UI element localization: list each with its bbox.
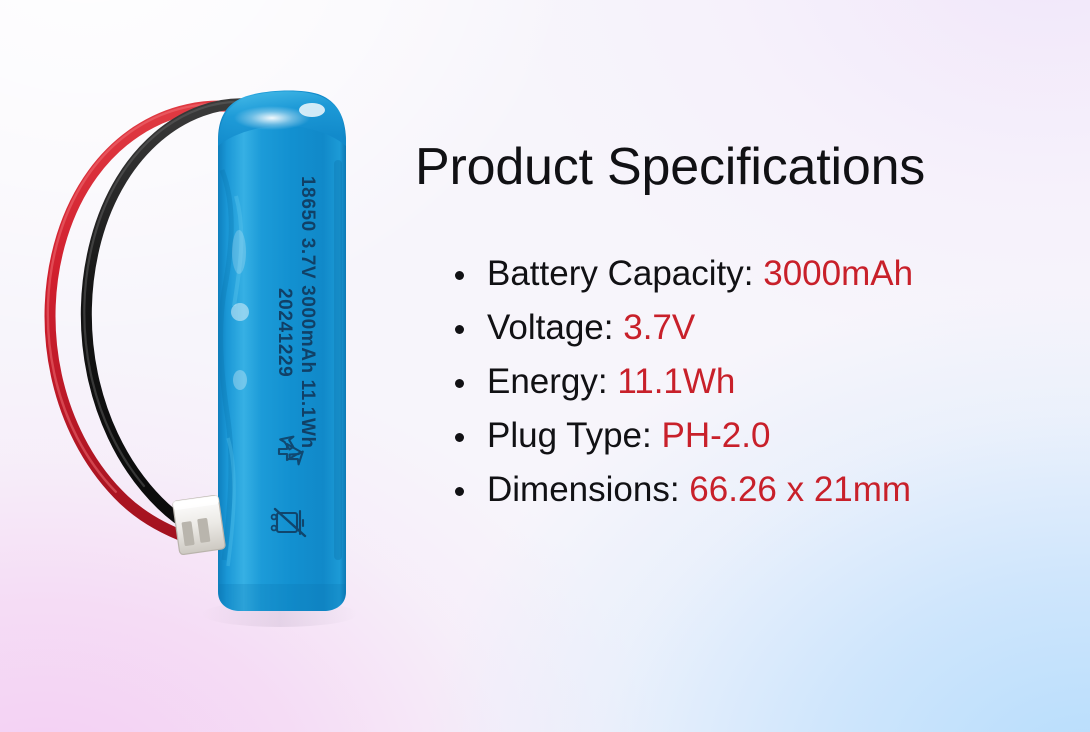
spec-value: 66.26 x 21mm <box>689 470 911 509</box>
spec-label: Voltage: <box>487 308 623 347</box>
product-spec-image: 18650 3.7V 3000mAh 11.1Wh 20241229 Produ… <box>0 0 1090 732</box>
battery-bottom-edge <box>219 584 345 611</box>
spec-value: 3.7V <box>623 308 695 347</box>
page-title: Product Specifications <box>415 140 1055 195</box>
spec-value: 11.1Wh <box>617 362 735 401</box>
spec-row-plug-type: Plug Type: PH-2.0 <box>415 409 1055 463</box>
spec-label: Battery Capacity: <box>487 254 763 293</box>
jst-ph-2.0-connector <box>172 495 225 555</box>
spec-label: Dimensions: <box>487 470 689 509</box>
cell-right-shade <box>334 160 342 560</box>
spec-value: PH-2.0 <box>661 416 770 455</box>
cell-label-spec-text: 18650 3.7V 3000mAh 11.1Wh <box>296 176 318 449</box>
spec-row-energy: Energy: 11.1Wh <box>415 355 1055 409</box>
battery-product-photo: 18650 3.7V 3000mAh 11.1Wh 20241229 <box>0 0 420 732</box>
cell-label-date-code: 20241229 <box>273 288 295 377</box>
gloss-left-streak <box>232 230 246 274</box>
gloss-dot-lower <box>233 370 247 390</box>
gloss-top <box>234 106 310 130</box>
spec-row-dimensions: Dimensions: 66.26 x 21mm <box>415 463 1055 517</box>
gloss-dot-top <box>299 103 325 117</box>
crossed-out-wheelie-bin-symbol <box>272 509 305 536</box>
gloss-dot-mid <box>231 303 249 321</box>
spec-value: 3000mAh <box>763 254 913 293</box>
spec-row-voltage: Voltage: 3.7V <box>415 301 1055 355</box>
spec-label: Plug Type: <box>487 416 661 455</box>
specification-list: Battery Capacity: 3000mAh Voltage: 3.7V … <box>415 247 1055 517</box>
positive-wire <box>50 106 243 538</box>
spec-row-battery-capacity: Battery Capacity: 3000mAh <box>415 247 1055 301</box>
specification-panel: Product Specifications Battery Capacity:… <box>415 140 1055 517</box>
spec-label: Energy: <box>487 362 617 401</box>
